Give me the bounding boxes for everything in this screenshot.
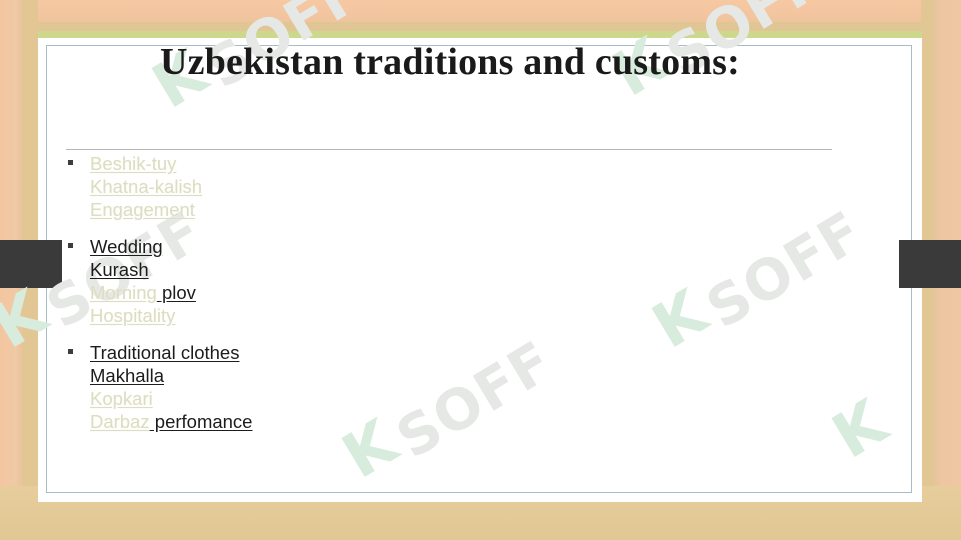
bullet-group: Beshik-tuy Khatna-kalish Engagement: [62, 152, 852, 221]
bullet-group: Wedding Kurash Morning plov Hospitality: [62, 235, 852, 327]
list-item: Wedding: [90, 235, 852, 258]
slide-accent-green-line: [38, 31, 922, 38]
list-item: Kopkari: [90, 387, 852, 410]
slide-body: Beshik-tuy Khatna-kalish Engagement Wedd…: [62, 152, 852, 447]
bullet-group: Traditional clothes Makhalla Kopkari Dar…: [62, 341, 852, 433]
list-item: Beshik-tuy: [90, 152, 852, 175]
list-item-label: Khatna-kalish: [90, 176, 202, 197]
list-item: Makhalla: [90, 364, 852, 387]
list-item: Khatna-kalish: [90, 175, 852, 198]
presentation-slide: K SOFF K SOFF K SOFF K SOFF K SOFF K Uzb…: [0, 0, 961, 540]
title-divider: [66, 149, 832, 150]
list-item: Kurash: [90, 258, 852, 281]
list-item-label: Engagement: [90, 199, 195, 220]
slide-border-top-peach: [0, 0, 961, 22]
list-item: Morning plov: [90, 281, 852, 304]
list-item-label: Kurash: [90, 259, 149, 280]
list-item: Engagement: [90, 198, 852, 221]
bullet-marker-icon: [68, 349, 73, 354]
list-item: Hospitality: [90, 304, 852, 327]
list-item-label-suffix: perfomance: [150, 411, 253, 432]
list-item-label: Morning: [90, 282, 157, 303]
list-item-label-suffix: plov: [157, 282, 196, 303]
slide-tab-left: [0, 240, 62, 288]
list-item-label: Traditional clothes: [90, 342, 239, 363]
list-item-label: Darbaz: [90, 411, 150, 432]
page-title: Uzbekistan traditions and customs:: [80, 42, 820, 84]
list-item-label: Hospitality: [90, 305, 175, 326]
list-item-label: Makhalla: [90, 365, 164, 386]
list-item-label: Kopkari: [90, 388, 153, 409]
list-item: Darbaz perfomance: [90, 410, 852, 433]
list-item: Traditional clothes: [90, 341, 852, 364]
slide-tab-right: [899, 240, 961, 288]
list-item-label: Wedding: [90, 236, 163, 257]
bullet-marker-icon: [68, 160, 73, 165]
list-item-label: Beshik-tuy: [90, 153, 176, 174]
bullet-marker-icon: [68, 243, 73, 248]
